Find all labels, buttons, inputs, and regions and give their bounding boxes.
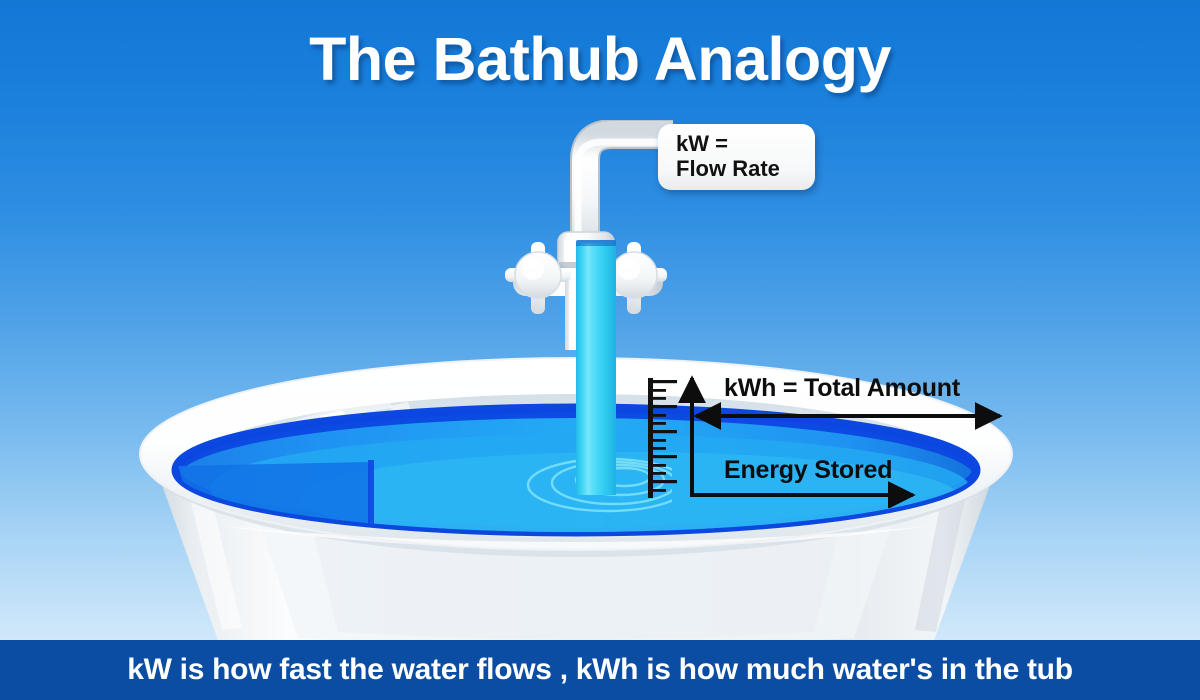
total-amount-label: kWh = Total Amount xyxy=(724,374,960,403)
caption-banner: kW is how fast the water flows , kWh is … xyxy=(0,640,1200,700)
water-stream xyxy=(576,243,616,495)
measurement-annotations: kWh = Total Amount Energy Stored xyxy=(670,368,1030,508)
caption-text: kW is how fast the water flows , kWh is … xyxy=(127,653,1072,687)
flow-rate-callout: kW = Flow Rate xyxy=(658,124,815,190)
page-title: The Bathub Analogy xyxy=(0,24,1200,94)
callout-line-1: kW = xyxy=(676,132,815,157)
callout-line-2: Flow Rate xyxy=(676,157,815,182)
energy-stored-label: Energy Stored xyxy=(724,456,892,485)
illustration-canvas: The Bathub Analogy xyxy=(0,0,1200,700)
